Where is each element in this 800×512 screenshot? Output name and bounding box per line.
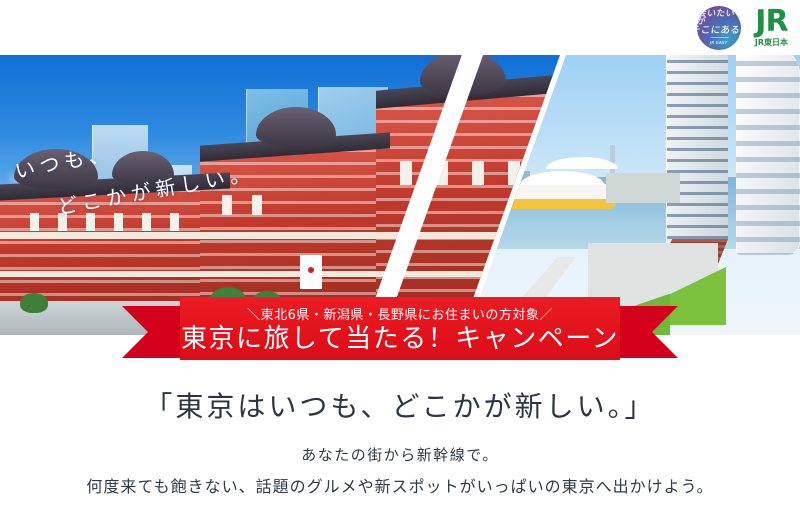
jr-east-logo[interactable]: JR JR東日本: [755, 8, 788, 48]
ribbon-title: 東京に旅して当たる！キャンペーン: [181, 324, 619, 354]
campaign-page: 会いたいが そこにある JR EAST JR JR東日本: [0, 0, 800, 512]
lead-copy-line-1: あなたの街から新幹線で。: [0, 444, 800, 465]
hero-photo-tokyo-station: [0, 55, 560, 335]
hero-banner: いつも、 どこかが新しい。: [0, 55, 800, 335]
jr-east-slogan-badge-icon[interactable]: 会いたいが そこにある JR EAST: [697, 6, 741, 50]
ribbon-subtitle: ＼東北6県・新潟県・長野県にお住まいの方対象／: [247, 304, 553, 323]
logo-group: 会いたいが そこにある JR EAST JR JR東日本: [697, 6, 788, 50]
badge-text: 会いたいが そこにある JR EAST: [697, 6, 741, 50]
badge-line-2: そこにある: [697, 27, 741, 35]
badge-line-1: 会いたいが: [697, 10, 741, 26]
lead-copy-line-2: 何度来ても飽きない、話題のグルメや新スポットがいっぱいの東京へ出かけよう。: [0, 473, 800, 497]
page-header: 会いたいが そこにある JR EAST JR JR東日本: [0, 0, 800, 55]
jr-mark-icon: JR: [755, 8, 787, 36]
badge-line-3: JR EAST: [709, 37, 728, 47]
ribbon-banner: ＼東北6県・新潟県・長野県にお住まいの方対象／ 東京に旅して当たる！キャンペーン: [180, 297, 620, 360]
jr-logo-label: JR東日本: [755, 37, 788, 48]
catch-copy: 「東京はいつも、どこかが新しい。」: [0, 385, 800, 425]
campaign-ribbon: ＼東北6県・新潟県・長野県にお住まいの方対象／ 東京に旅して当たる！キャンペーン: [0, 297, 800, 369]
